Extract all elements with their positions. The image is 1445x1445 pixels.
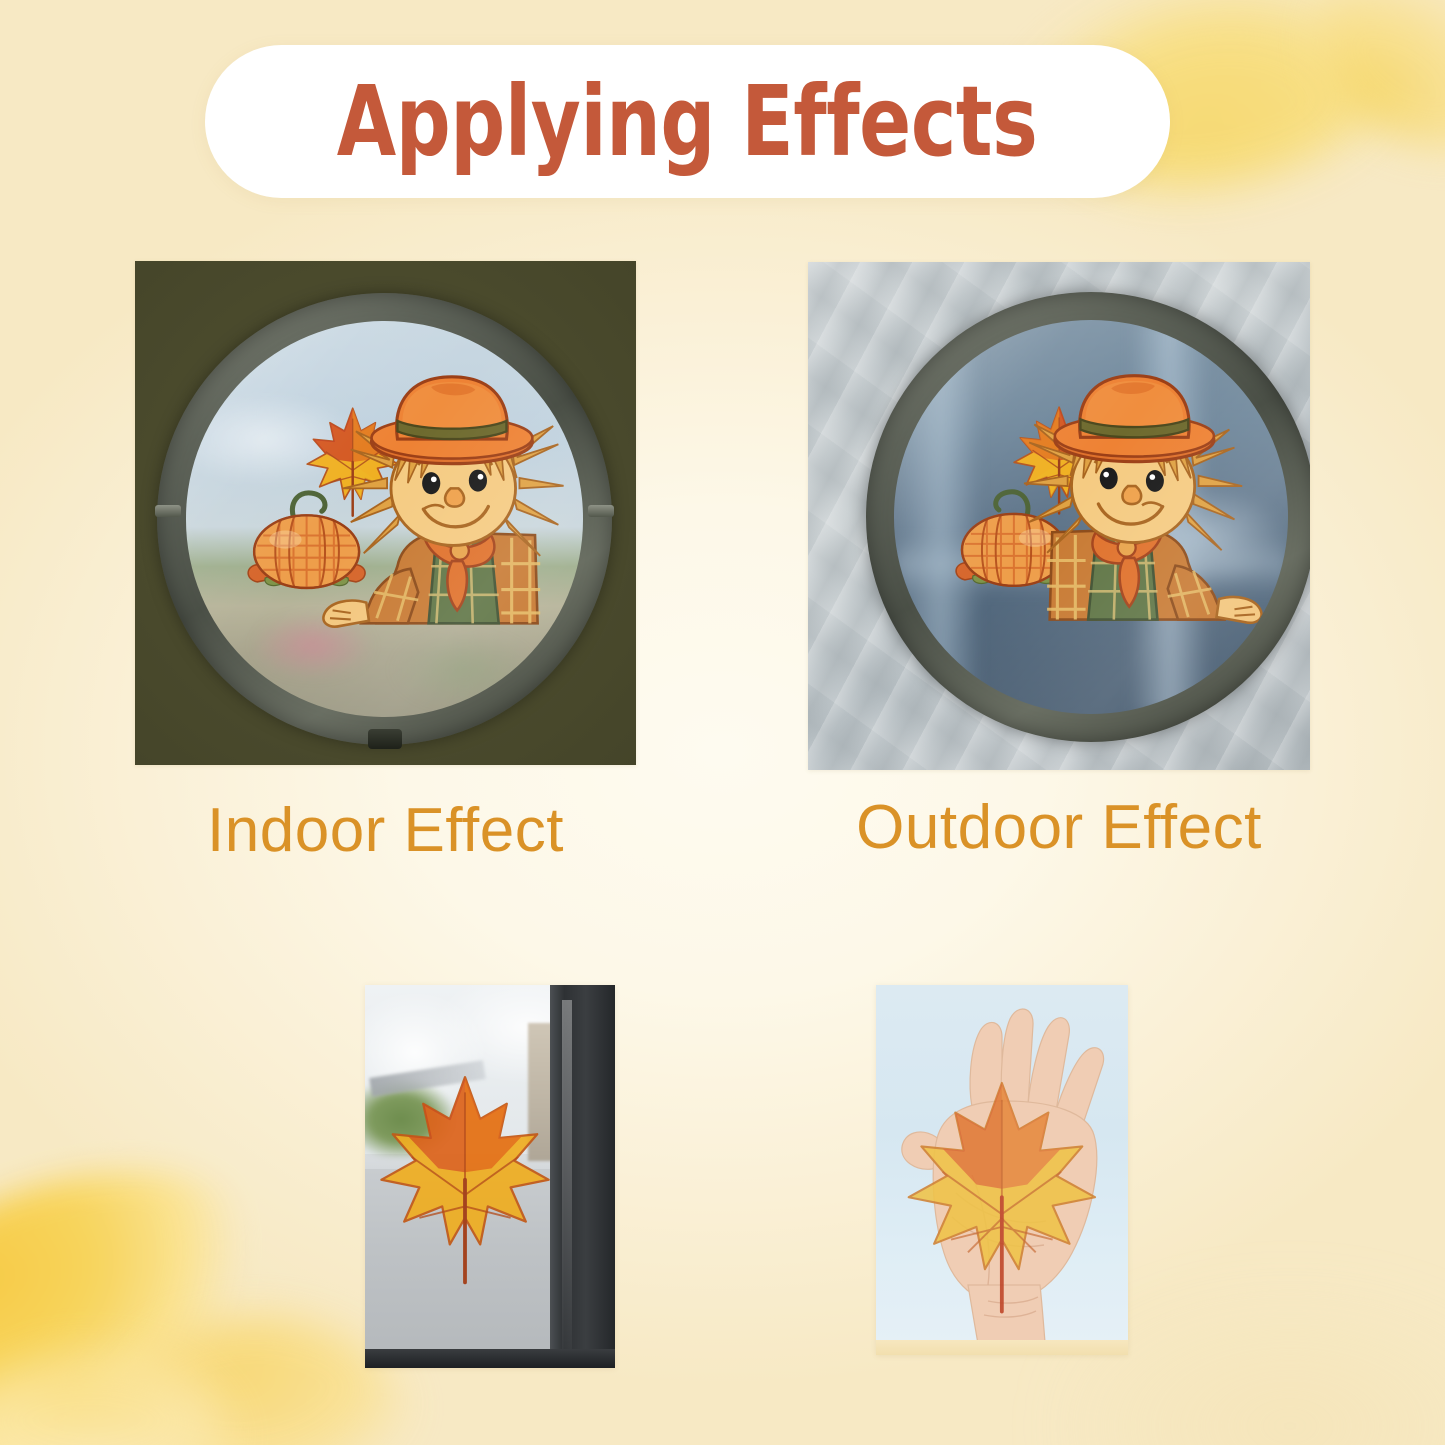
round-window [157, 293, 612, 745]
title-banner: Applying Effects [205, 45, 1170, 198]
hinge-icon [588, 505, 614, 517]
indoor-effect-photo [135, 261, 636, 765]
ginkgo-leaf-icon [0, 1355, 240, 1445]
maple-leaf-icon [896, 1066, 1108, 1320]
indoor-effect-caption: Indoor Effect [135, 795, 636, 866]
round-window [866, 292, 1310, 742]
hinge-icon [155, 505, 181, 517]
maple-leaf-icon [370, 1062, 560, 1290]
ginkgo-leaf-icon [0, 1185, 300, 1445]
poster-canvas: Applying Effects [0, 0, 1445, 1445]
handle-icon [368, 729, 402, 749]
table-edge [876, 1340, 1128, 1355]
window-glass [186, 321, 584, 716]
scarecrow-icon [317, 369, 564, 642]
outdoor-effect-caption: Outdoor Effect [808, 792, 1310, 863]
gallery-photo-window-leaf [365, 985, 615, 1368]
gallery-photo-hand-leaf [876, 985, 1128, 1355]
page-title: Applying Effects [337, 73, 1038, 170]
ginkgo-leaf-icon [1320, 0, 1445, 150]
window-mullion [550, 985, 615, 1368]
outdoor-effect-photo [808, 262, 1310, 770]
effect-card-outdoor: Outdoor Effect [808, 262, 1310, 770]
window-sill [365, 1349, 615, 1368]
scarecrow-icon [1024, 368, 1268, 638]
window-glass [894, 320, 1287, 713]
effect-card-indoor: Indoor Effect [135, 261, 636, 765]
